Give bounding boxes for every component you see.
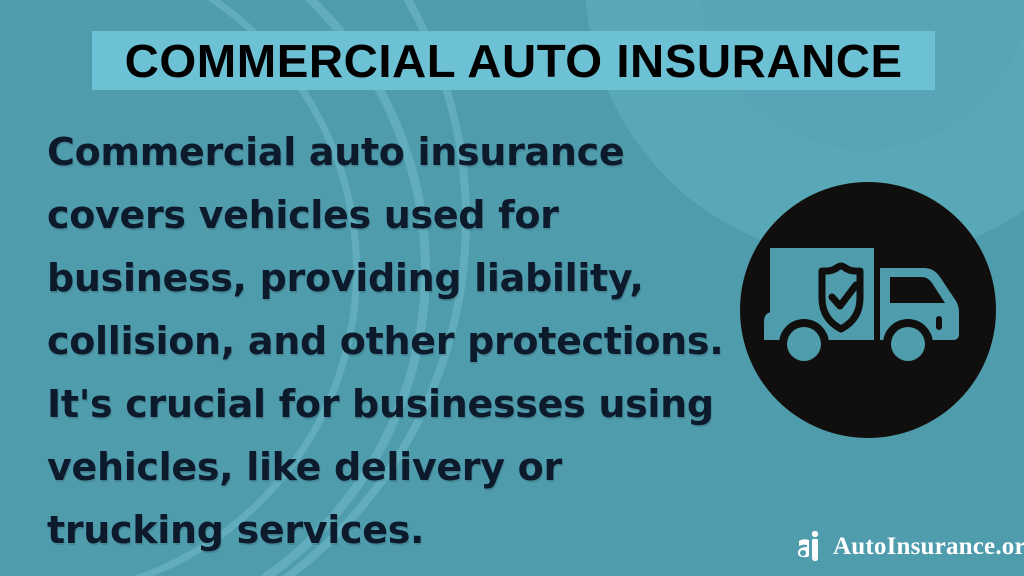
- delivery-truck-shield-check-icon: [764, 244, 972, 376]
- title-highlight-band: COMMERCIAL AUTO INSURANCE: [92, 31, 935, 90]
- body-line: vehicles, like delivery or: [47, 436, 747, 499]
- site-logo[interactable]: AutoInsurance.org: [796, 531, 1024, 561]
- body-line: Commercial auto insurance: [47, 121, 747, 184]
- body-line: trucking services.: [47, 499, 747, 562]
- truck-badge: [740, 182, 996, 438]
- autoinsurance-ai-monogram-icon: [796, 531, 824, 561]
- body-line: collision, and other protections.: [47, 310, 747, 373]
- page-title: COMMERCIAL AUTO INSURANCE: [124, 38, 902, 84]
- logo-wordmark: AutoInsurance.org: [833, 534, 1024, 559]
- infographic-card: COMMERCIAL AUTO INSURANCE Commercial aut…: [0, 0, 1024, 576]
- body-text-block: Commercial auto insurance covers vehicle…: [47, 121, 747, 562]
- body-line: business, providing liability,: [47, 247, 747, 310]
- body-line: It's crucial for businesses using: [47, 373, 747, 436]
- body-line: covers vehicles used for: [47, 184, 747, 247]
